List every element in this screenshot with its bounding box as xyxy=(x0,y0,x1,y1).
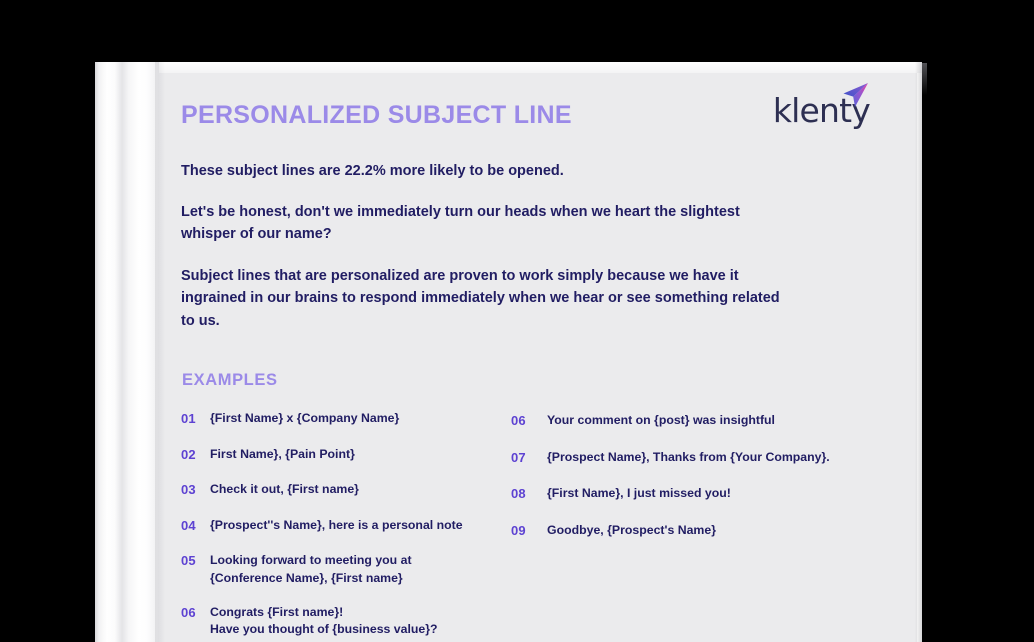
list-item-text-line1: Congrats {First name}! xyxy=(210,605,343,619)
list-item: 09 Goodbye, {Prospect's Name} xyxy=(511,522,871,540)
list-item-text: {First Name} x {Company Name} xyxy=(210,410,399,427)
list-item-text: Goodbye, {Prospect's Name} xyxy=(547,522,716,539)
document-page: klenty PERSONALIZED SUBJECT LIN xyxy=(95,62,922,642)
list-item-number: 04 xyxy=(181,517,210,535)
list-item: 07 {Prospect Name}, Thanks from {Your Co… xyxy=(511,449,871,467)
list-item-text: Your comment on {post} was insightful xyxy=(547,412,775,429)
examples-columns: 01 {First Name} x {Company Name} 02 Firs… xyxy=(181,410,906,642)
list-item: 02 First Name}, {Pain Point} xyxy=(181,446,511,464)
list-item: 05 Looking forward to meeting you at {Co… xyxy=(181,552,511,587)
intro-paragraph-2: Let's be honest, don't we immediately tu… xyxy=(181,201,796,246)
examples-heading: EXAMPLES xyxy=(182,371,906,390)
list-item-text: Congrats {First name}! Have you thought … xyxy=(210,604,438,639)
list-item-number: 06 xyxy=(181,604,210,622)
list-item-text: First Name}, {Pain Point} xyxy=(210,446,355,463)
list-item: 03 Check it out, {First name} xyxy=(181,481,511,499)
list-item-text: {Prospect Name}, Thanks from {Your Compa… xyxy=(547,449,830,466)
list-item: 04 {Prospect''s Name}, here is a persona… xyxy=(181,517,511,535)
list-item-text-line2: Have you thought of {business value}? xyxy=(210,621,438,638)
list-item-number: 06 xyxy=(511,412,547,430)
list-item-text: {Prospect''s Name}, here is a personal n… xyxy=(210,517,463,534)
list-item: 06 Your comment on {post} was insightful xyxy=(511,412,871,430)
intro-paragraph-1: These subject lines are 22.2% more likel… xyxy=(181,160,796,182)
document-body: klenty PERSONALIZED SUBJECT LIN xyxy=(181,102,906,642)
page-edge-tab xyxy=(922,63,927,95)
list-item-number: 01 xyxy=(181,410,210,428)
list-item-text: Check it out, {First name} xyxy=(210,481,359,498)
list-item-number: 02 xyxy=(181,446,210,464)
list-item-text: {First Name}, I just missed you! xyxy=(547,485,731,502)
list-item-number: 07 xyxy=(511,449,547,467)
list-item: 08 {First Name}, I just missed you! xyxy=(511,485,871,503)
list-item: 01 {First Name} x {Company Name} xyxy=(181,410,511,428)
list-item-number: 08 xyxy=(511,485,547,503)
list-item-text-line2: {Conference Name}, {First name} xyxy=(210,570,412,587)
examples-column-right: 06 Your comment on {post} was insightful… xyxy=(511,410,871,642)
list-item-text: Looking forward to meeting you at {Confe… xyxy=(210,552,412,587)
paper-plane-arrow-icon xyxy=(838,80,872,114)
list-item-number: 09 xyxy=(511,522,547,540)
page-spine-curl xyxy=(95,62,159,642)
intro-paragraph-3: Subject lines that are personalized are … xyxy=(181,265,796,332)
page-top-edge xyxy=(95,62,922,73)
list-item-text-line1: Looking forward to meeting you at xyxy=(210,553,412,567)
list-item: 06 Congrats {First name}! Have you thoug… xyxy=(181,604,511,639)
list-item-number: 05 xyxy=(181,552,210,570)
klenty-logo: klenty xyxy=(773,94,870,127)
examples-column-left: 01 {First Name} x {Company Name} 02 Firs… xyxy=(181,410,511,642)
list-item-number: 03 xyxy=(181,481,210,499)
